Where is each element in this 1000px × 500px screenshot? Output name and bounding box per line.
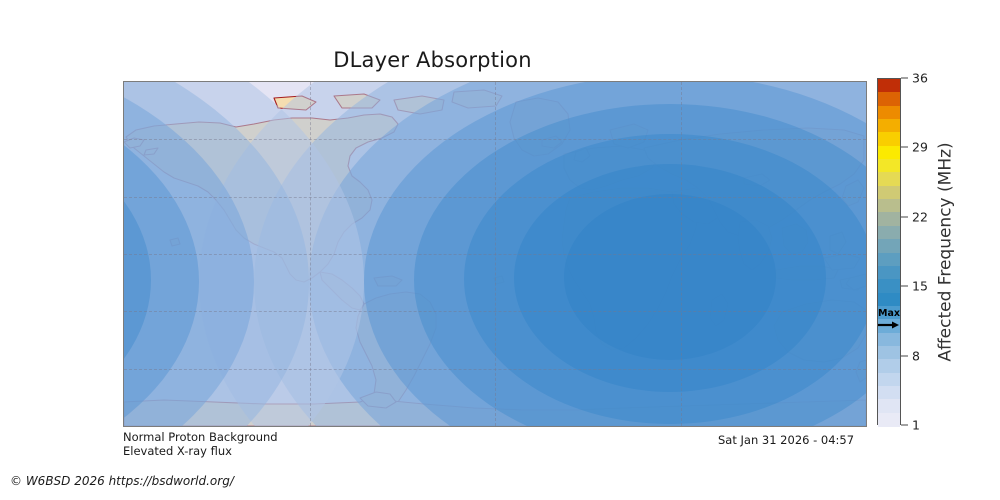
colorbar-tick-mark	[901, 147, 908, 148]
colorbar-tick-label: 8	[912, 348, 920, 363]
colorbar-segment	[878, 159, 900, 173]
colorbar[interactable]: Max 1815222936	[877, 78, 901, 425]
colorbar-tick-mark	[901, 286, 908, 287]
dlayer-absorption-map-page: DLayer Absorption	[0, 0, 1000, 500]
colorbar-tick: 8	[901, 348, 920, 363]
colorbar-gradient	[877, 78, 901, 425]
page-title: DLayer Absorption	[0, 48, 865, 72]
right-arrow-icon	[878, 321, 900, 329]
colorbar-tick-label: 22	[912, 209, 928, 224]
graticule-layer	[124, 82, 866, 426]
colorbar-segment	[878, 172, 900, 186]
colorbar-segment	[878, 132, 900, 146]
colorbar-tick-mark	[901, 78, 908, 79]
gridline-parallel	[124, 254, 866, 255]
colorbar-segment	[878, 199, 900, 213]
colorbar-segment	[878, 239, 900, 253]
colorbar-tick: 29	[901, 140, 928, 155]
colorbar-segment	[878, 346, 900, 360]
gridline-parallel	[124, 369, 866, 370]
colorbar-tick: 1	[901, 418, 920, 433]
colorbar-segment	[878, 79, 900, 93]
gridline-parallel	[124, 197, 866, 198]
colorbar-tick-mark	[901, 216, 908, 217]
colorbar-tick: 22	[901, 209, 928, 224]
map-canvas[interactable]	[124, 82, 866, 426]
gridline-meridian	[681, 82, 682, 426]
colorbar-tick-mark	[901, 425, 908, 426]
colorbar-max-label: Max	[878, 308, 900, 319]
colorbar-segment	[878, 359, 900, 373]
gridline-parallel	[124, 311, 866, 312]
colorbar-segment	[878, 119, 900, 133]
copyright-notice: © W6BSD 2026 https://bsdworld.org/	[10, 474, 234, 488]
colorbar-segment	[878, 266, 900, 280]
colorbar-segment	[878, 333, 900, 347]
map-panel[interactable]	[123, 81, 867, 427]
colorbar-tick-label: 36	[912, 71, 928, 86]
colorbar-segment	[878, 146, 900, 160]
colorbar-segment	[878, 253, 900, 267]
colorbar-tick: 36	[901, 71, 928, 86]
colorbar-segment	[878, 226, 900, 240]
gridline-meridian	[310, 82, 311, 426]
colorbar-axis-label: Affected Frequency (MHz)	[935, 78, 957, 425]
status-line-xray: Elevated X-ray flux	[123, 444, 278, 458]
colorbar-tick-label: 1	[912, 418, 920, 433]
colorbar-segment	[878, 373, 900, 387]
colorbar-segment	[878, 92, 900, 106]
colorbar-segment	[878, 186, 900, 200]
colorbar-tick-label: 29	[912, 140, 928, 155]
gridline-parallel	[124, 139, 866, 140]
colorbar-segment	[878, 386, 900, 400]
gridline-meridian	[495, 82, 496, 426]
colorbar-axis-label-text: Affected Frequency (MHz)	[936, 142, 956, 361]
colorbar-tick: 15	[901, 279, 928, 294]
colorbar-segment	[878, 413, 900, 427]
colorbar-segment	[878, 106, 900, 120]
colorbar-segment	[878, 212, 900, 226]
colorbar-tick-mark	[901, 355, 908, 356]
colorbar-segment	[878, 399, 900, 413]
colorbar-segment	[878, 293, 900, 307]
colorbar-tick-label: 15	[912, 279, 928, 294]
status-line-proton: Normal Proton Background	[123, 430, 278, 444]
timestamp: Sat Jan 31 2026 - 04:57	[718, 433, 854, 447]
status-annotations: Normal Proton Background Elevated X-ray …	[123, 430, 278, 458]
colorbar-segment	[878, 279, 900, 293]
